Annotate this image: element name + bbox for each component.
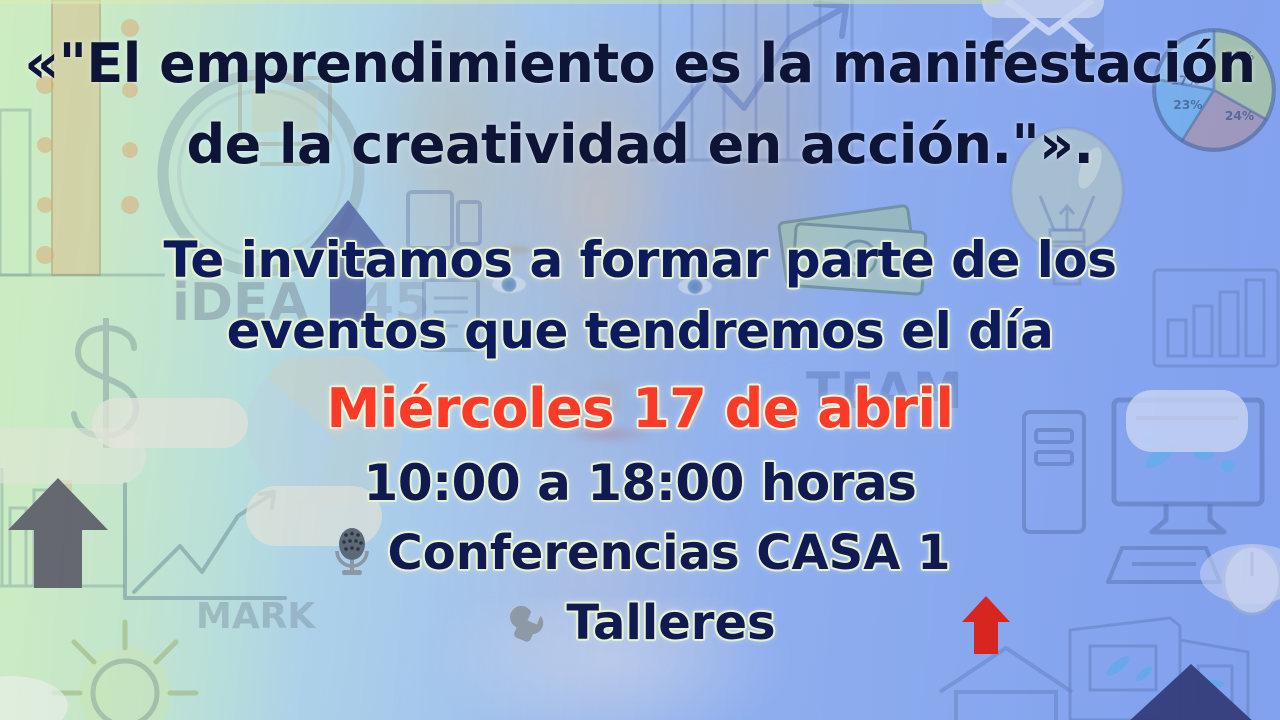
event-poster: iDEA 45 MARK TEAM — [0, 0, 1280, 720]
event-date: Miércoles 17 de abril — [327, 379, 954, 438]
wrench-icon — [504, 599, 552, 647]
venue-row-conferences: Conferencias CASA 1 — [330, 525, 951, 581]
quote-line-1: «"El emprendimiento es la manifestación — [24, 34, 1255, 93]
microphone-icon — [330, 527, 374, 579]
quote-line-2: de la creatividad en acción."». — [186, 115, 1093, 174]
poster-content: «"El emprendimiento es la manifestación … — [0, 0, 1280, 720]
venue-label-conferences: Conferencias CASA 1 — [388, 525, 951, 581]
venue-label-workshops: Talleres — [566, 595, 775, 651]
invitation-line-1: Te invitamos a formar parte de los — [163, 233, 1116, 288]
invitation-line-2: eventos que tendremos el día — [227, 304, 1054, 359]
event-time: 10:00 a 18:00 horas — [364, 456, 917, 511]
venue-row-workshops: Talleres — [504, 595, 775, 651]
